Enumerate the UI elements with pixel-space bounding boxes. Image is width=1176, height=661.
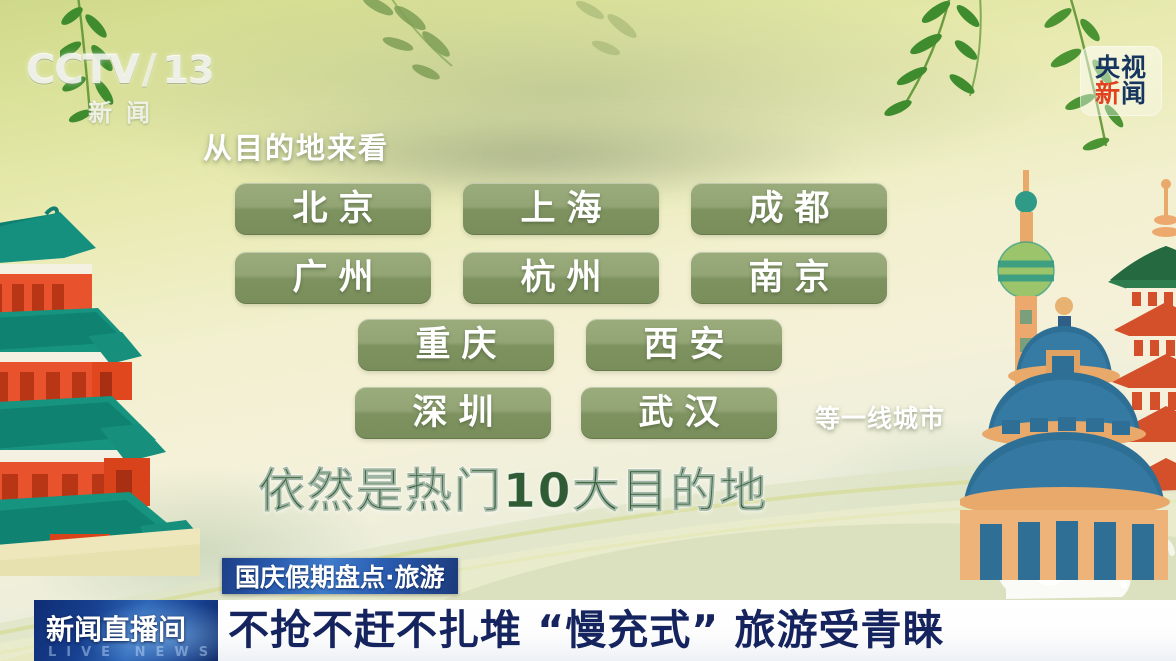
city-row-4: 深圳 武汉 等一线城市 — [355, 387, 945, 439]
live-program-subtitle: LIVE NEWS — [48, 645, 218, 660]
city-chip-label: 重庆 — [404, 328, 507, 363]
city-chip-shanghai[interactable]: 上海 — [463, 183, 659, 235]
city-chip-label: 成都 — [737, 192, 840, 227]
live-program-logo: 新闻直播间 LIVE NEWS — [34, 600, 218, 661]
etc-first-tier-cities-label: 等一线城市 — [815, 399, 945, 435]
city-chip-label: 深圳 — [401, 396, 504, 431]
city-chip-beijing[interactable]: 北京 — [235, 183, 431, 235]
city-chip-label: 北京 — [281, 192, 384, 227]
city-chip-label: 西安 — [632, 328, 735, 363]
city-chip-label: 南京 — [737, 261, 840, 296]
infographic-conclusion-text: 依然是热门10大目的地 — [258, 452, 768, 521]
city-row-3: 重庆 西安 — [358, 319, 782, 371]
city-chip-chongqing[interactable]: 重庆 — [358, 319, 554, 371]
city-chip-label: 杭州 — [509, 261, 612, 296]
city-chip-chengdu[interactable]: 成都 — [691, 183, 887, 235]
city-chip-label: 上海 — [509, 192, 612, 227]
city-chip-guangzhou[interactable]: 广州 — [235, 252, 431, 304]
broadcast-screen: CCTV / 13 新闻 央视 新闻 从目的地来看 北京 上海 成都 广州 杭州… — [0, 0, 1176, 661]
topic-badge: 国庆假期盘点·旅游 — [222, 558, 458, 594]
city-row-2: 广州 杭州 南京 — [235, 252, 887, 304]
headline-strip: 不抢不赶不扎堆 “慢充式” 旅游受青睐 — [218, 600, 1176, 661]
headline-text: 不抢不赶不扎堆 “慢充式” 旅游受青睐 — [218, 610, 944, 651]
city-chip-label: 武汉 — [627, 396, 730, 431]
lower-third-bar: 新闻直播间 LIVE NEWS 不抢不赶不扎堆 “慢充式” 旅游受青睐 — [0, 600, 1176, 661]
city-chip-xian[interactable]: 西安 — [586, 319, 782, 371]
infographic-intro-text: 从目的地来看 — [203, 125, 389, 167]
city-chip-shenzhen[interactable]: 深圳 — [355, 387, 551, 439]
city-chip-hangzhou[interactable]: 杭州 — [463, 252, 659, 304]
city-chip-nanjing[interactable]: 南京 — [691, 252, 887, 304]
city-chip-wuhan[interactable]: 武汉 — [581, 387, 777, 439]
live-program-title: 新闻直播间 — [46, 608, 186, 648]
city-chip-label: 广州 — [281, 261, 384, 296]
city-row-1: 北京 上海 成都 — [235, 183, 887, 235]
topic-badge-label: 国庆假期盘点·旅游 — [235, 558, 445, 594]
destination-infographic: 从目的地来看 北京 上海 成都 广州 杭州 南京 重庆 西安 深圳 武汉 等一线… — [0, 0, 1176, 540]
